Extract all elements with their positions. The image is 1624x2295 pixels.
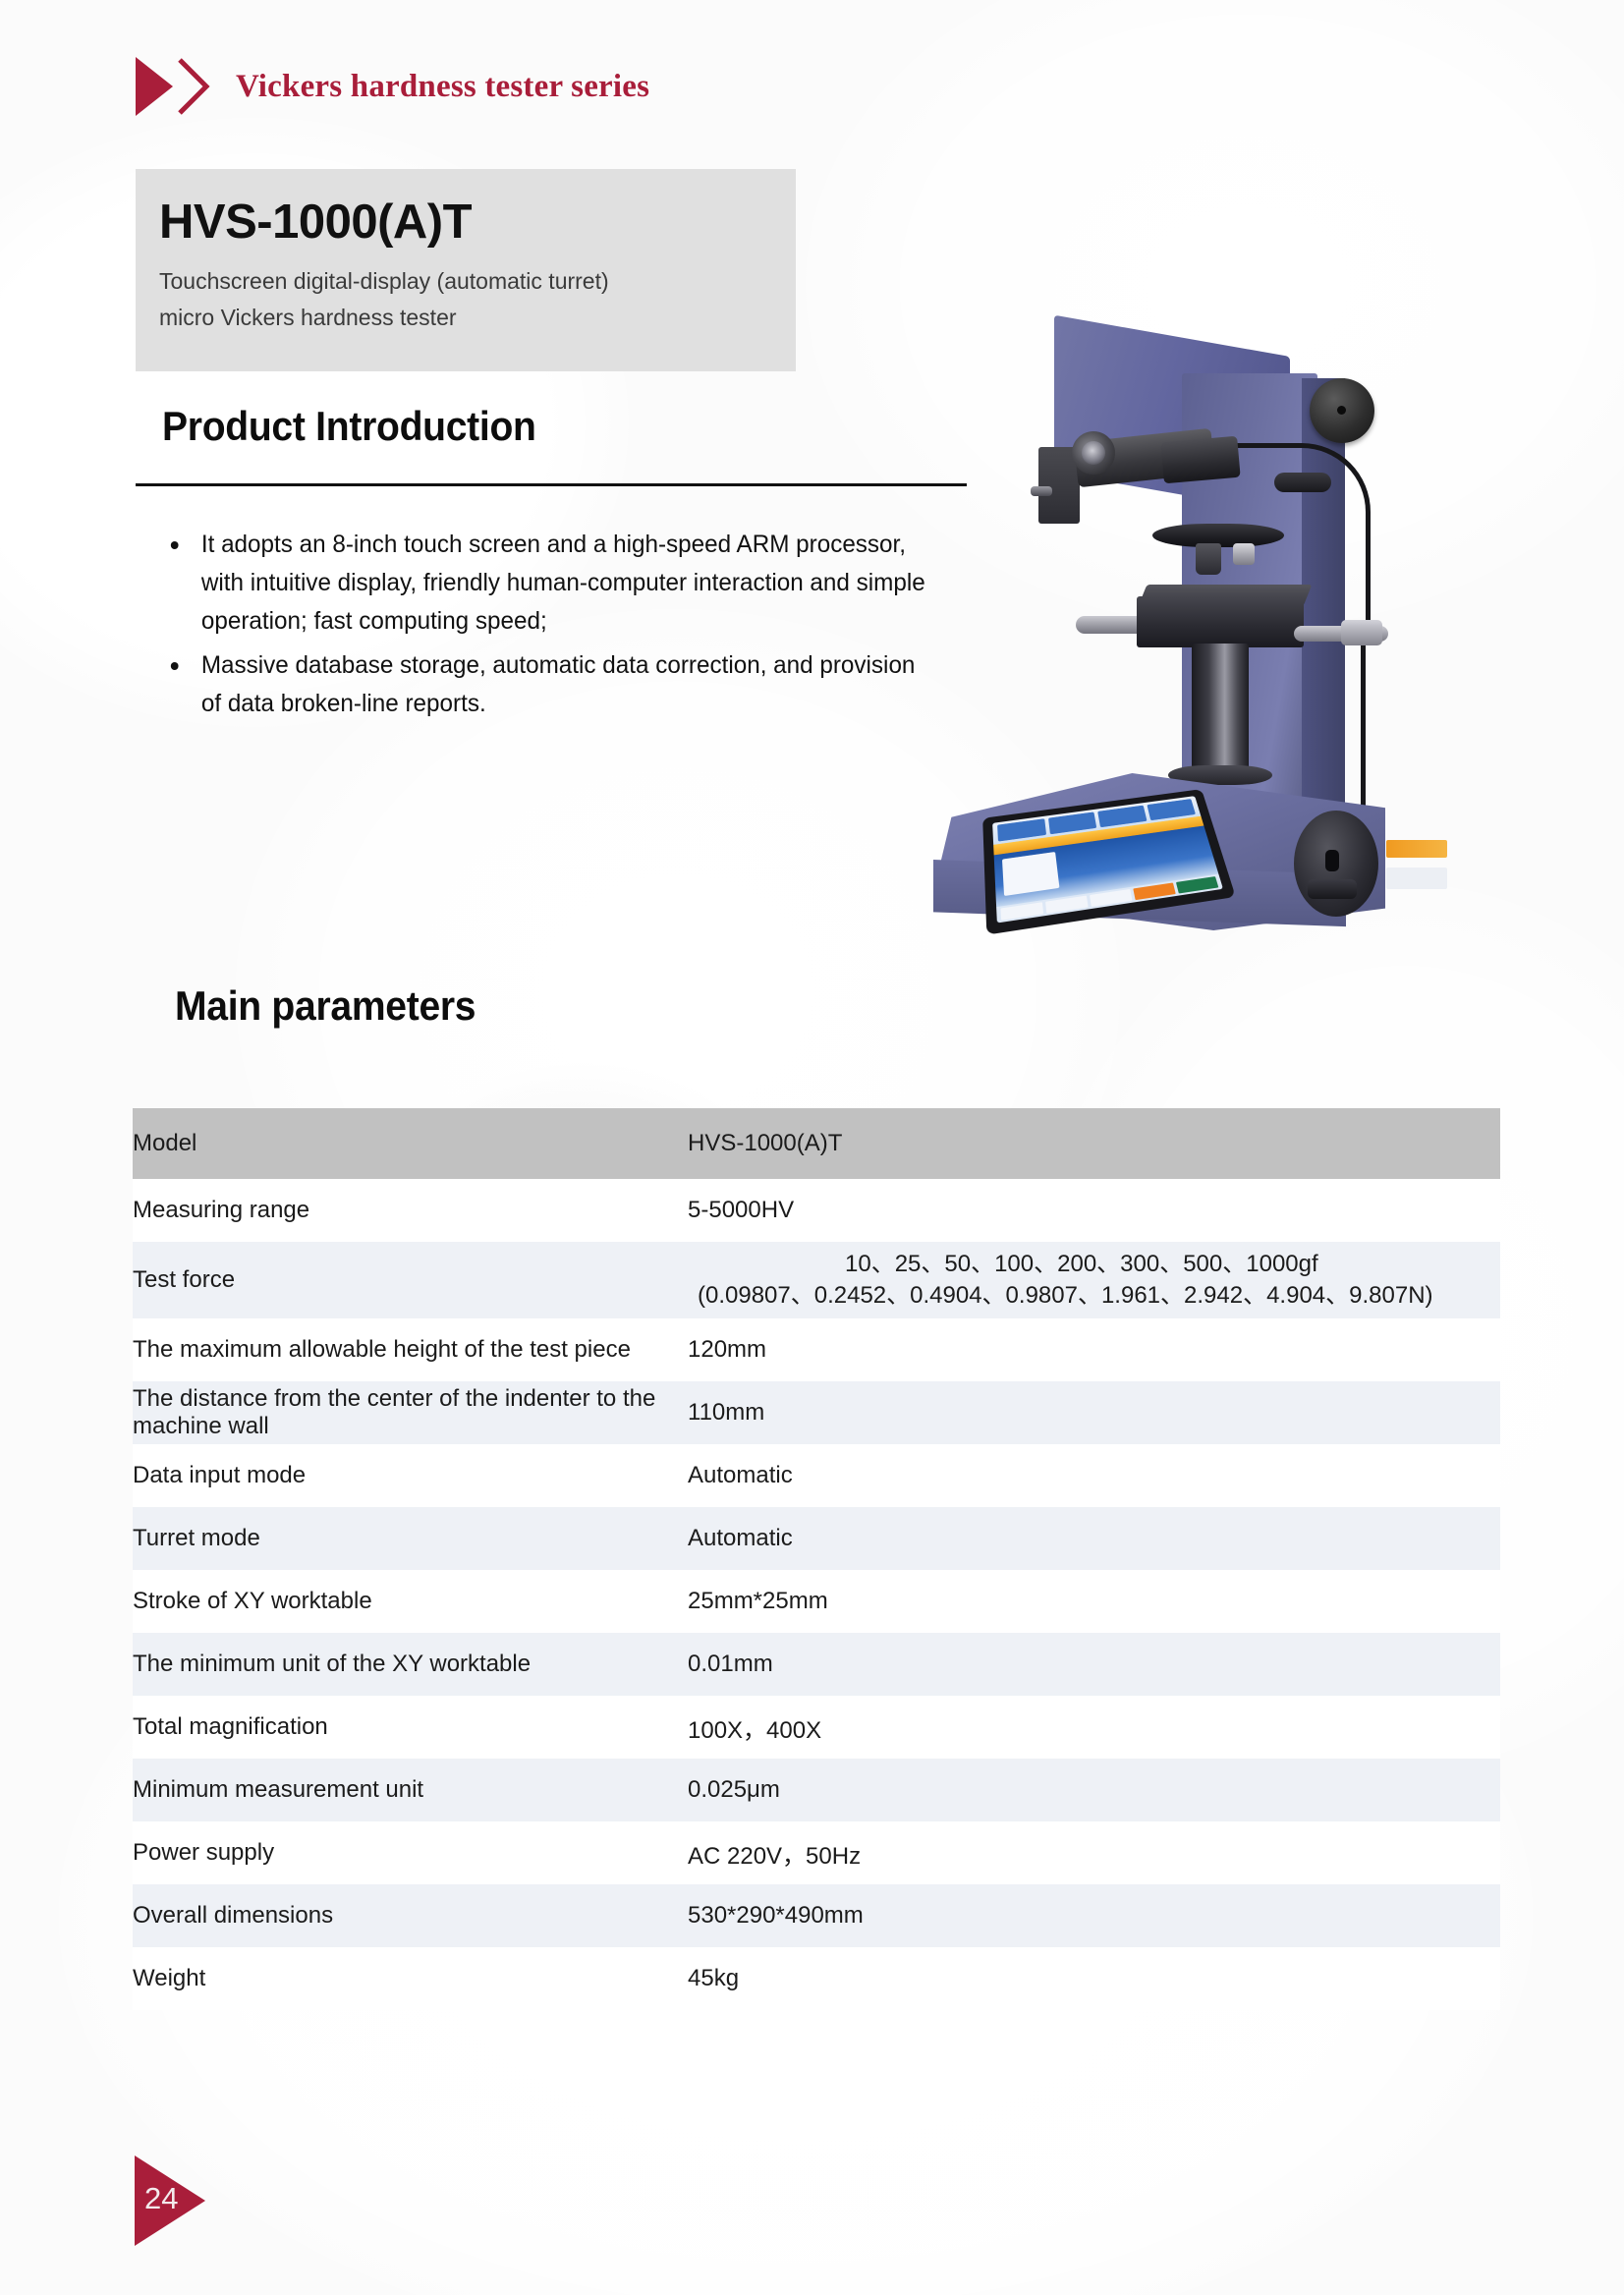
row-label: Test force: [133, 1242, 688, 1318]
list-item: Massive database storage, automatic data…: [165, 646, 927, 723]
table-row: The maximum allowable height of the test…: [133, 1318, 1500, 1381]
row-label: Turret mode: [133, 1507, 688, 1570]
table-row: Test force 10、25、50、100、200、300、500、1000…: [133, 1242, 1500, 1318]
row-value: 530*290*490mm: [688, 1884, 1500, 1947]
table-row: Data input mode Automatic: [133, 1444, 1500, 1507]
row-label: Total magnification: [133, 1696, 688, 1759]
row-label: The minimum unit of the XY worktable: [133, 1633, 688, 1696]
row-value-line1: 10、25、50、100、200、300、500、1000gf: [688, 1249, 1500, 1280]
model-subtitle-line2: micro Vickers hardness tester: [159, 301, 796, 335]
row-value: 0.01mm: [688, 1633, 1500, 1696]
row-label: The maximum allowable height of the test…: [133, 1318, 688, 1381]
row-value: 100X，400X: [688, 1696, 1500, 1759]
table-row: Stroke of XY worktable 25mm*25mm: [133, 1570, 1500, 1633]
row-value: Automatic: [688, 1507, 1500, 1570]
table-row: The minimum unit of the XY worktable 0.0…: [133, 1633, 1500, 1696]
row-label: Power supply: [133, 1821, 688, 1884]
list-item: It adopts an 8-inch touch screen and a h…: [165, 526, 927, 641]
row-value: 5-5000HV: [688, 1179, 1500, 1242]
row-label: Data input mode: [133, 1444, 688, 1507]
table-row: Turret mode Automatic: [133, 1507, 1500, 1570]
table-row: The distance from the center of the inde…: [133, 1381, 1500, 1444]
product-photo: [928, 349, 1479, 987]
row-value-line2: (0.09807、0.2452、0.4904、0.9807、1.961、2.94…: [688, 1280, 1500, 1312]
model-name: HVS-1000(A)T: [159, 198, 796, 247]
table-header-value: HVS-1000(A)T: [688, 1108, 1500, 1179]
section-divider: [136, 483, 967, 486]
row-label: Measuring range: [133, 1179, 688, 1242]
table-header-label: Model: [133, 1108, 688, 1179]
page-canvas: Vickers hardness tester series HVS-1000(…: [0, 0, 1624, 2295]
table-row: Power supply AC 220V，50Hz: [133, 1821, 1500, 1884]
row-value: AC 220V，50Hz: [688, 1821, 1500, 1884]
table-row: Total magnification 100X，400X: [133, 1696, 1500, 1759]
row-label: Overall dimensions: [133, 1884, 688, 1947]
row-label: The distance from the center of the inde…: [133, 1381, 688, 1444]
product-introduction-heading: Product Introduction: [162, 403, 536, 450]
row-value: 45kg: [688, 1947, 1500, 2010]
double-chevron-right-icon: [136, 57, 210, 116]
page-number: 24: [144, 2181, 178, 2216]
page-number-badge: 24: [135, 2155, 205, 2246]
row-value: 120mm: [688, 1318, 1500, 1381]
row-value: 110mm: [688, 1381, 1500, 1444]
brand-header: Vickers hardness tester series: [136, 57, 649, 116]
row-label: Weight: [133, 1947, 688, 2010]
row-value: Automatic: [688, 1444, 1500, 1507]
row-label: Stroke of XY worktable: [133, 1570, 688, 1633]
row-value: 10、25、50、100、200、300、500、1000gf (0.09807…: [688, 1242, 1500, 1318]
table-row: Measuring range 5-5000HV: [133, 1179, 1500, 1242]
row-value: 0.025μm: [688, 1759, 1500, 1821]
table-row: Overall dimensions 530*290*490mm: [133, 1884, 1500, 1947]
table-header-row: Model HVS-1000(A)T: [133, 1108, 1500, 1179]
model-subtitle-line1: Touchscreen digital-display (automatic t…: [159, 264, 796, 299]
table-row: Weight 45kg: [133, 1947, 1500, 2010]
brand-title: Vickers hardness tester series: [236, 69, 649, 105]
parameters-table: Model HVS-1000(A)T Measuring range 5-500…: [133, 1108, 1500, 2010]
row-label: Minimum measurement unit: [133, 1759, 688, 1821]
table-row: Minimum measurement unit 0.025μm: [133, 1759, 1500, 1821]
row-value: 25mm*25mm: [688, 1570, 1500, 1633]
main-parameters-heading: Main parameters: [175, 982, 476, 1030]
product-introduction-list: It adopts an 8-inch touch screen and a h…: [165, 526, 951, 729]
model-title-block: HVS-1000(A)T Touchscreen digital-display…: [136, 169, 796, 371]
